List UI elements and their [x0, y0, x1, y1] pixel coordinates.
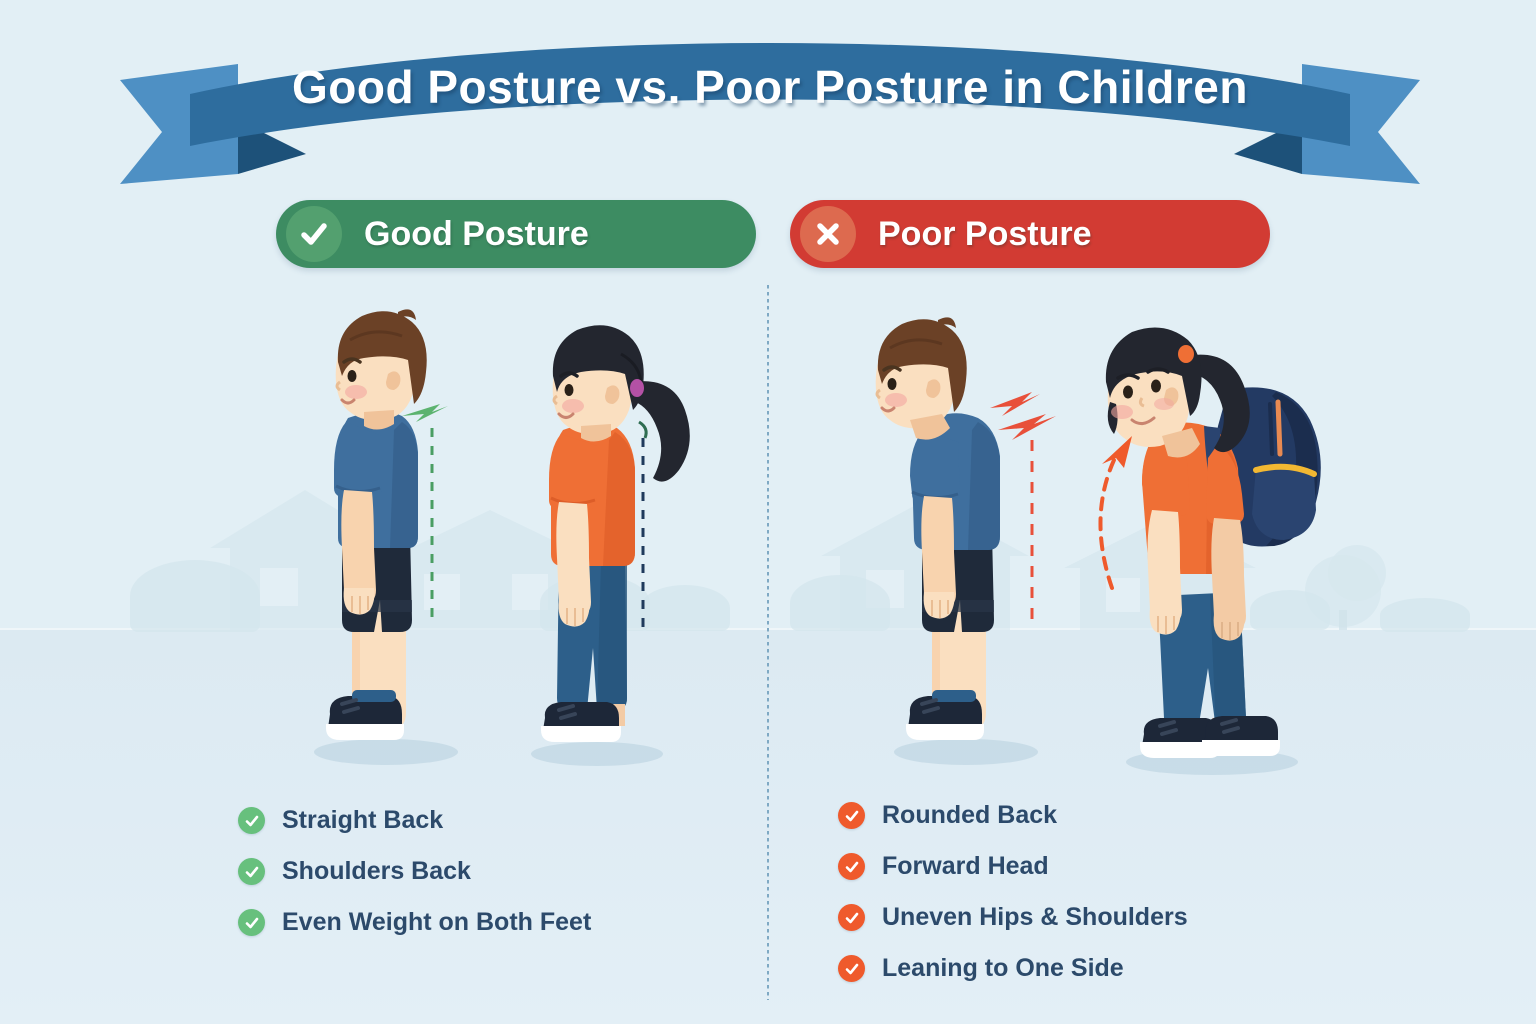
eye: [1123, 386, 1133, 399]
cheek-blush: [562, 399, 584, 413]
list-item[interactable]: Rounded Back: [838, 790, 1188, 841]
good-boy-illustration: [290, 300, 500, 770]
curved-red-arrow-icon: [1100, 436, 1132, 588]
arm: [556, 502, 591, 614]
check-glyph: [844, 859, 860, 875]
check-circle-icon: [238, 807, 265, 834]
check-glyph: [244, 813, 260, 829]
sock: [932, 690, 976, 702]
list-item[interactable]: Forward Head: [838, 841, 1188, 892]
shirt-shade-rounded-back: [968, 422, 1000, 550]
poor-boy-illustration: [850, 300, 1080, 770]
cross-glyph: [812, 218, 844, 250]
title-banner: Good Posture vs. Poor Posture in Childre…: [120, 34, 1420, 184]
infographic-canvas: Good Posture vs. Poor Posture in Childre…: [0, 0, 1536, 1024]
green-lightning-arrow-icon: [402, 404, 448, 422]
cross-icon: [800, 206, 856, 262]
sleeve: [334, 422, 382, 498]
list-item[interactable]: Even Weight on Both Feet: [238, 897, 591, 948]
list-item-label: Rounded Back: [882, 801, 1057, 830]
list-item-label: Straight Back: [282, 806, 443, 835]
eye: [888, 378, 897, 390]
check-circle-icon: [838, 955, 865, 982]
figure-shadow: [894, 739, 1038, 765]
red-lightning-arrow-icon: [990, 392, 1056, 440]
check-circle-icon: [838, 802, 865, 829]
check-circle-icon: [838, 853, 865, 880]
check-circle-icon: [238, 858, 265, 885]
alignment-line-cap: [639, 422, 646, 438]
sleeve: [549, 434, 597, 510]
check-icon: [286, 206, 342, 262]
shoe-sole: [541, 726, 621, 742]
eye: [565, 384, 574, 396]
arm: [921, 496, 956, 606]
shoe-sole: [1202, 740, 1280, 756]
bush-silhouette: [130, 560, 260, 632]
list-item[interactable]: Leaning to One Side: [838, 943, 1188, 994]
check-circle-icon: [238, 909, 265, 936]
check-glyph: [244, 864, 260, 880]
check-circle-icon: [838, 904, 865, 931]
list-item-label: Uneven Hips & Shoulders: [882, 903, 1188, 932]
eye: [348, 370, 357, 382]
eye: [1151, 380, 1161, 393]
hair-tie: [630, 379, 644, 397]
good-posture-girl-figure: [515, 318, 725, 770]
good-posture-checklist: Straight Back Shoulders Back Even Weight…: [238, 795, 591, 948]
sock: [352, 690, 396, 702]
pants-shade: [597, 562, 627, 710]
list-item-label: Leaning to One Side: [882, 954, 1124, 983]
bush-silhouette: [1380, 598, 1470, 632]
cheek-blush: [1111, 405, 1133, 419]
check-glyph: [844, 910, 860, 926]
poor-posture-boy-figure: [850, 300, 1080, 770]
section-badge-poor-posture[interactable]: Poor Posture: [790, 200, 1270, 268]
good-posture-boy-figure: [290, 300, 500, 770]
check-glyph: [297, 217, 331, 251]
list-item-label: Forward Head: [882, 852, 1049, 881]
shoe-sole: [906, 724, 984, 740]
poor-girl-illustration: [1080, 318, 1370, 780]
cheek-blush: [885, 393, 907, 407]
shirt-shade: [390, 422, 418, 548]
poor-posture-girl-figure: [1080, 318, 1370, 780]
badge-label-good: Good Posture: [364, 215, 589, 254]
section-badge-good-posture[interactable]: Good Posture: [276, 200, 756, 268]
check-glyph: [844, 961, 860, 977]
arm-right: [1211, 518, 1246, 628]
cheek-blush: [1154, 398, 1174, 410]
list-item[interactable]: Straight Back: [238, 795, 591, 846]
list-item[interactable]: Uneven Hips & Shoulders: [838, 892, 1188, 943]
poor-posture-checklist: Rounded Back Forward Head Uneven Hips & …: [838, 790, 1188, 994]
list-item-label: Shoulders Back: [282, 857, 471, 886]
backpack-zip: [1278, 402, 1280, 454]
page-title: Good Posture vs. Poor Posture in Childre…: [120, 60, 1420, 114]
figure-shadow: [531, 742, 663, 766]
hair-tie: [1178, 345, 1194, 363]
check-glyph: [244, 915, 260, 931]
cheek-blush: [345, 385, 367, 399]
section-divider: [767, 285, 769, 1000]
arm-left: [1148, 510, 1183, 622]
arm: [341, 490, 376, 602]
list-item[interactable]: Shoulders Back: [238, 846, 591, 897]
figure-shadow: [314, 739, 458, 765]
badge-label-poor: Poor Posture: [878, 215, 1091, 254]
check-glyph: [844, 808, 860, 824]
shoe-sole: [326, 724, 404, 740]
list-item-label: Even Weight on Both Feet: [282, 908, 591, 937]
good-girl-illustration: [515, 318, 725, 770]
